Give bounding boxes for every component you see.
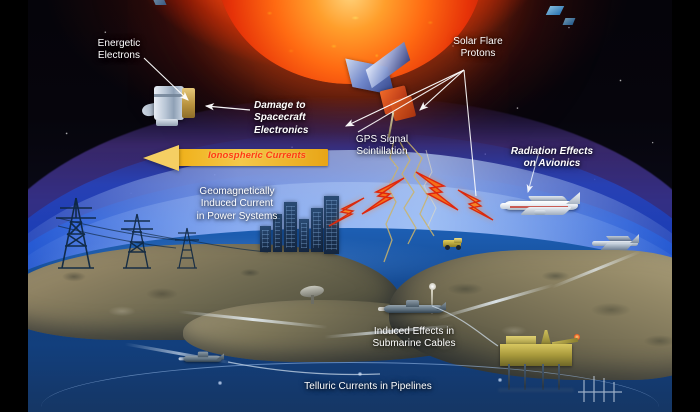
satellite-thermal-blanket bbox=[182, 88, 195, 118]
commercial-airliner bbox=[500, 190, 586, 220]
label-radiation-avionics: Radiation Effects on Avionics bbox=[490, 146, 614, 171]
label-damage-spacecraft: Damage to Spacecraft Electronics bbox=[254, 100, 346, 137]
submarine bbox=[384, 300, 450, 316]
scintillation-bolt bbox=[456, 188, 496, 222]
platform-leg bbox=[542, 364, 544, 390]
transmission-tower bbox=[120, 212, 154, 270]
illustration-plate: Ionospheric Currents bbox=[28, 0, 672, 412]
building bbox=[260, 226, 271, 252]
offshore-oil-platform bbox=[496, 330, 580, 392]
ionospheric-currents-label: Ionospheric Currents bbox=[191, 150, 323, 161]
building bbox=[311, 208, 323, 252]
label-gic-power-systems: Geomagnetically Induced Current in Power… bbox=[170, 186, 304, 223]
antenna-beacon bbox=[429, 283, 436, 290]
truck-cab bbox=[454, 238, 462, 243]
jet-wing bbox=[601, 243, 633, 250]
truck-wheel bbox=[456, 245, 461, 250]
building bbox=[299, 219, 309, 252]
transmission-tower bbox=[54, 196, 98, 270]
pipeline-node bbox=[358, 372, 362, 376]
label-energetic-electrons: Energetic Electrons bbox=[64, 38, 174, 63]
submarine-sail bbox=[406, 300, 419, 307]
particle-shard bbox=[152, 0, 166, 5]
aircraft-engine bbox=[534, 210, 546, 215]
platform-waterline bbox=[498, 388, 574, 392]
truck-wheel bbox=[445, 245, 450, 250]
utility-truck bbox=[441, 238, 465, 250]
diagram-canvas: Ionospheric Currents bbox=[0, 0, 700, 412]
satellite-thruster bbox=[156, 119, 178, 126]
submarine-sail bbox=[198, 352, 208, 358]
arrow-head bbox=[143, 145, 179, 171]
label-telluric-pipelines: Telluric Currents in Pipelines bbox=[278, 381, 458, 393]
submarine bbox=[183, 352, 226, 365]
satellite-body bbox=[154, 86, 184, 120]
radar-dish bbox=[300, 286, 326, 304]
satellite-bus bbox=[390, 96, 416, 122]
label-solar-flare-protons: Solar Flare Protons bbox=[426, 36, 530, 61]
aircraft-wing bbox=[520, 207, 572, 215]
satellite-band bbox=[154, 94, 184, 97]
transmission-tower bbox=[174, 226, 200, 270]
pipeline-node bbox=[218, 381, 222, 385]
platform-leg bbox=[558, 364, 560, 390]
platform-leg bbox=[524, 364, 526, 390]
platform-leg bbox=[508, 364, 510, 390]
platform-deck bbox=[500, 344, 572, 366]
radar-mast bbox=[311, 295, 314, 304]
aircraft-nose bbox=[500, 203, 510, 209]
communications-satellite bbox=[138, 78, 202, 130]
scintillation-bolt bbox=[414, 170, 462, 212]
ionospheric-currents-arrow: Ionospheric Currents bbox=[143, 145, 328, 171]
label-gps-scintillation: GPS Signal Scintillation bbox=[334, 134, 430, 159]
label-submarine-cables: Induced Effects in Submarine Cables bbox=[350, 326, 478, 351]
scintillation-bolt bbox=[326, 196, 366, 228]
military-fighter-jet bbox=[590, 232, 642, 254]
